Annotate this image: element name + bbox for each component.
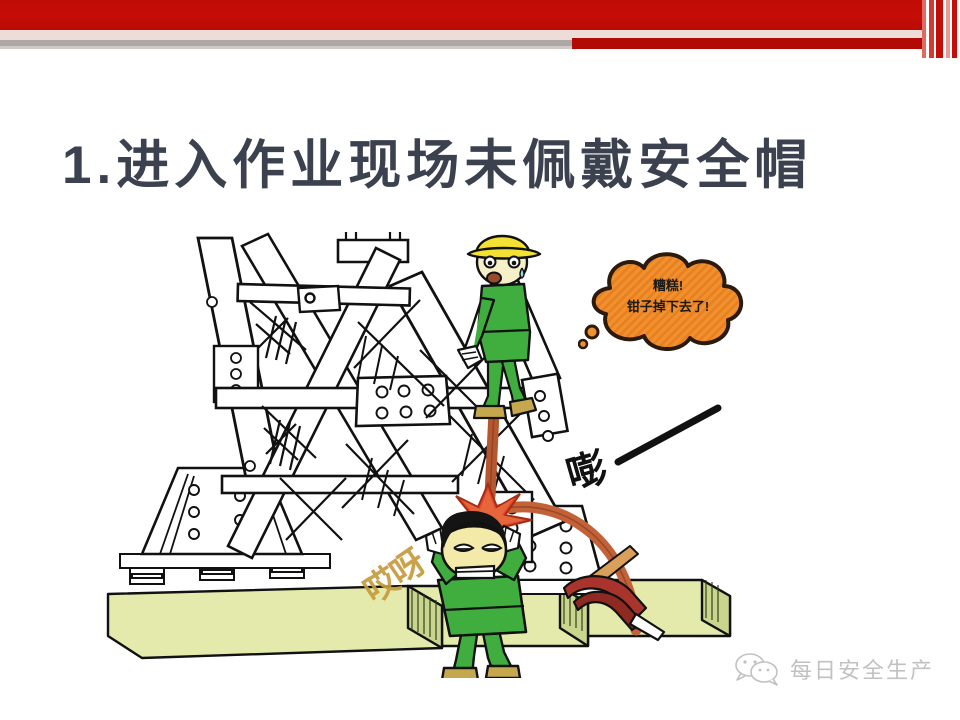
- watermark-text: 每日安全生产: [790, 653, 934, 685]
- header-banner: [0, 0, 960, 58]
- header-gray-stripe-light: [0, 46, 575, 49]
- header-dark-bar: [572, 38, 960, 49]
- header-red-band: [0, 0, 960, 30]
- impact-pointer-line: [610, 400, 740, 470]
- watermark: 每日安全生产: [733, 650, 934, 688]
- wechat-icon: [733, 650, 781, 688]
- speech-bubble: 糟糕! 钳子掉下去了!: [578, 248, 758, 360]
- page-title: 1.进入作业现场未佩戴安全帽: [62, 136, 862, 195]
- slide-canvas: 1.进入作业现场未佩戴安全帽: [0, 0, 960, 720]
- header-vertical-stripes: [922, 0, 960, 58]
